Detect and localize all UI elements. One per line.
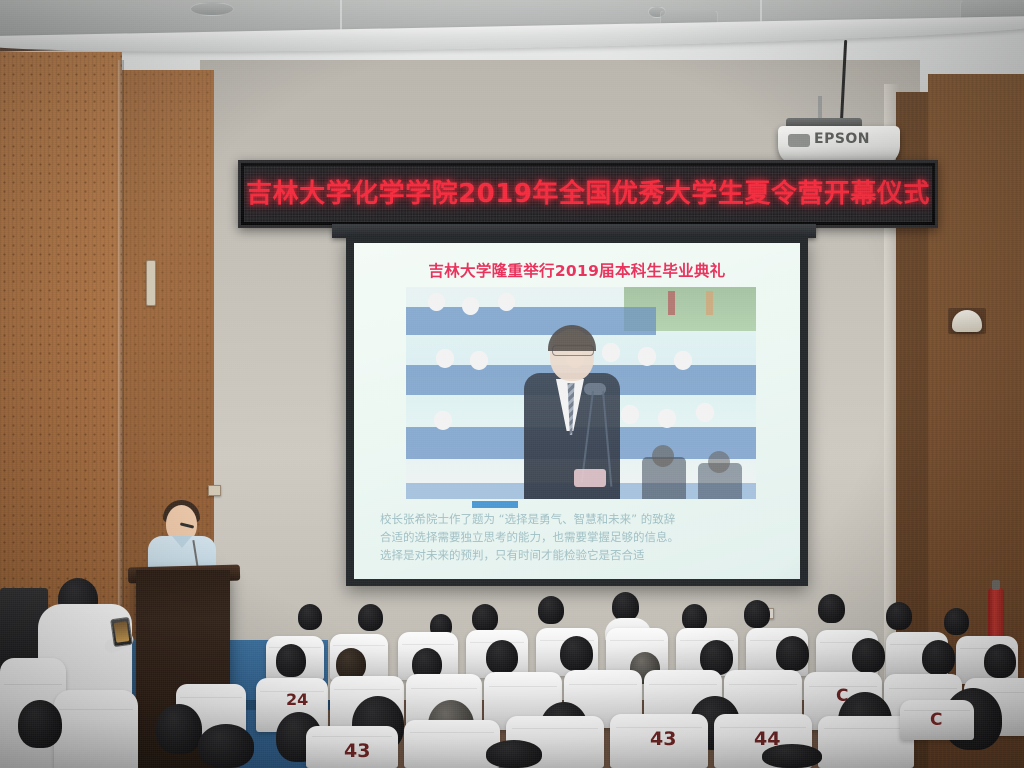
led-banner-text: 吉林大学化学学院2019年全国优秀大学生夏令营开幕仪式 xyxy=(246,181,930,207)
slide-title: 吉林大学隆重举行2019届本科生毕业典礼 xyxy=(354,259,800,281)
slide-body-text: 校长张希院士作了题为 “选择是勇气、智慧和未来” 的致辞 合适的选择需要独立思考… xyxy=(366,511,800,564)
seat[interactable] xyxy=(404,720,500,768)
seat[interactable]: C xyxy=(900,700,974,740)
slide-photo-audience-head xyxy=(638,347,656,366)
audience-head xyxy=(156,704,202,754)
seat-number: C xyxy=(930,710,942,730)
led-banner: 吉林大学化学学院2019年全国优秀大学生夏令营开幕仪式 xyxy=(238,160,938,228)
seat[interactable]: 43 xyxy=(306,726,398,768)
led-banner-screen: 吉林大学化学学院2019年全国优秀大学生夏令营开幕仪式 xyxy=(244,166,932,222)
audience-head xyxy=(852,638,885,673)
slide-photo-seated-head xyxy=(652,445,674,467)
slide-photo-audience-head xyxy=(470,351,488,370)
wall-sconce-icon xyxy=(952,310,982,332)
audience-head xyxy=(560,636,593,671)
slide-photo-audience-head xyxy=(434,411,452,430)
projector-icon: EPSON xyxy=(778,126,900,162)
slide-photo-audience-head xyxy=(462,297,479,315)
slide-photo-seated-head xyxy=(708,451,730,473)
slide-photo-audience-head xyxy=(696,403,714,422)
slide-photo-audience-head xyxy=(498,293,515,311)
audience-head xyxy=(472,604,498,632)
smartphone-screen xyxy=(114,621,130,643)
audience-head xyxy=(486,740,542,768)
audience-head xyxy=(944,608,969,635)
slide-body-line-2: 合适的选择需要独立思考的能力，也需要掌握足够的信息。 xyxy=(380,529,800,547)
lecture-hall-photo: EPSON 吉林大学化学学院2019年全国优秀大学生夏令营开幕仪式 吉林大学隆重… xyxy=(0,0,1024,768)
projector-lens-icon xyxy=(788,134,810,147)
glasses-icon xyxy=(552,345,594,356)
seat[interactable]: 43 xyxy=(610,714,708,768)
audience-head xyxy=(984,644,1016,678)
seat[interactable] xyxy=(54,690,138,768)
audience-head xyxy=(486,640,518,674)
slide-photo-audience-head xyxy=(674,351,692,370)
audience-head xyxy=(298,604,322,630)
projector-brand-label: EPSON xyxy=(814,131,894,147)
audience-head xyxy=(612,592,639,621)
seat-number: 43 xyxy=(344,740,370,762)
audience-head xyxy=(818,594,845,623)
slide-body-line-1: 校长张希院士作了题为 “选择是勇气、智慧和未来” 的致辞 xyxy=(380,511,800,529)
wall-outlet[interactable] xyxy=(208,485,221,496)
ceiling-vent xyxy=(190,2,234,16)
wall-trim-plate xyxy=(146,260,156,306)
audience-head xyxy=(762,744,822,768)
slide-photograph xyxy=(406,287,756,499)
audience-head xyxy=(198,724,254,768)
audience-head xyxy=(358,604,383,631)
audience-head xyxy=(744,600,770,628)
audience-head xyxy=(776,636,809,671)
slide-photo-audience-head xyxy=(436,349,454,368)
audience-head xyxy=(922,640,955,675)
slide-photo-audience-head xyxy=(428,293,445,311)
slide-body-line-3: 选择是对未来的预判，只有时间才能检验它是否合适 xyxy=(380,547,800,565)
slide-accent-bar xyxy=(472,501,518,508)
seat-number: 43 xyxy=(650,728,676,750)
slide-photo-flag xyxy=(706,291,713,315)
audience-head xyxy=(886,602,912,630)
projection-screen-surface: 吉林大学隆重举行2019届本科生毕业典礼 xyxy=(354,243,800,579)
slide-photo-audience-head xyxy=(602,343,620,362)
slide-photo-seat-band xyxy=(406,307,656,335)
fire-extinguisher-icon xyxy=(988,588,1004,640)
audience-head xyxy=(538,596,564,624)
slide-photo-speech-paper xyxy=(574,469,606,487)
slide-photo-flag xyxy=(668,291,675,315)
smartphone-icon xyxy=(110,617,133,647)
slide-photo-audience-head xyxy=(621,405,639,424)
audience-head xyxy=(276,644,306,677)
audience-head xyxy=(682,604,707,631)
seat-number: 24 xyxy=(286,690,308,709)
audience-head xyxy=(18,700,62,748)
slide-photo-audience-head xyxy=(658,409,676,428)
